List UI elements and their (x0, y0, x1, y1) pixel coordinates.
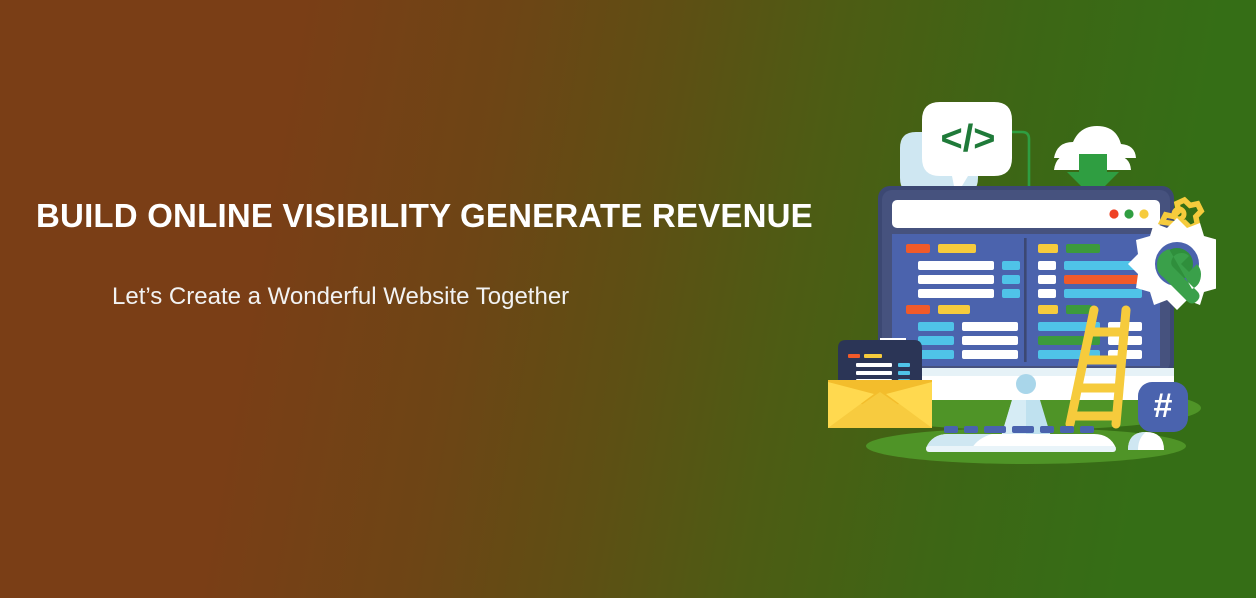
hero-banner: BUILD ONLINE VISIBILITY GENERATE REVENUE… (0, 0, 1256, 598)
browser-window-dots (1109, 209, 1148, 218)
hero-copy: BUILD ONLINE VISIBILITY GENERATE REVENUE… (36, 196, 816, 311)
keyboard (926, 426, 1116, 452)
keyboard-keys (944, 426, 1094, 433)
hashtag-badge-label: # (1154, 387, 1173, 425)
monitor-power-led (1016, 374, 1036, 394)
web-development-illustration: </> (826, 86, 1216, 476)
page-title: BUILD ONLINE VISIBILITY GENERATE REVENUE (36, 196, 816, 236)
email-envelope-icon (828, 338, 932, 428)
code-bubble-label: </> (941, 118, 996, 160)
hashtag-badge: # (1138, 382, 1188, 432)
page-subtitle: Let’s Create a Wonderful Website Togethe… (36, 236, 816, 312)
